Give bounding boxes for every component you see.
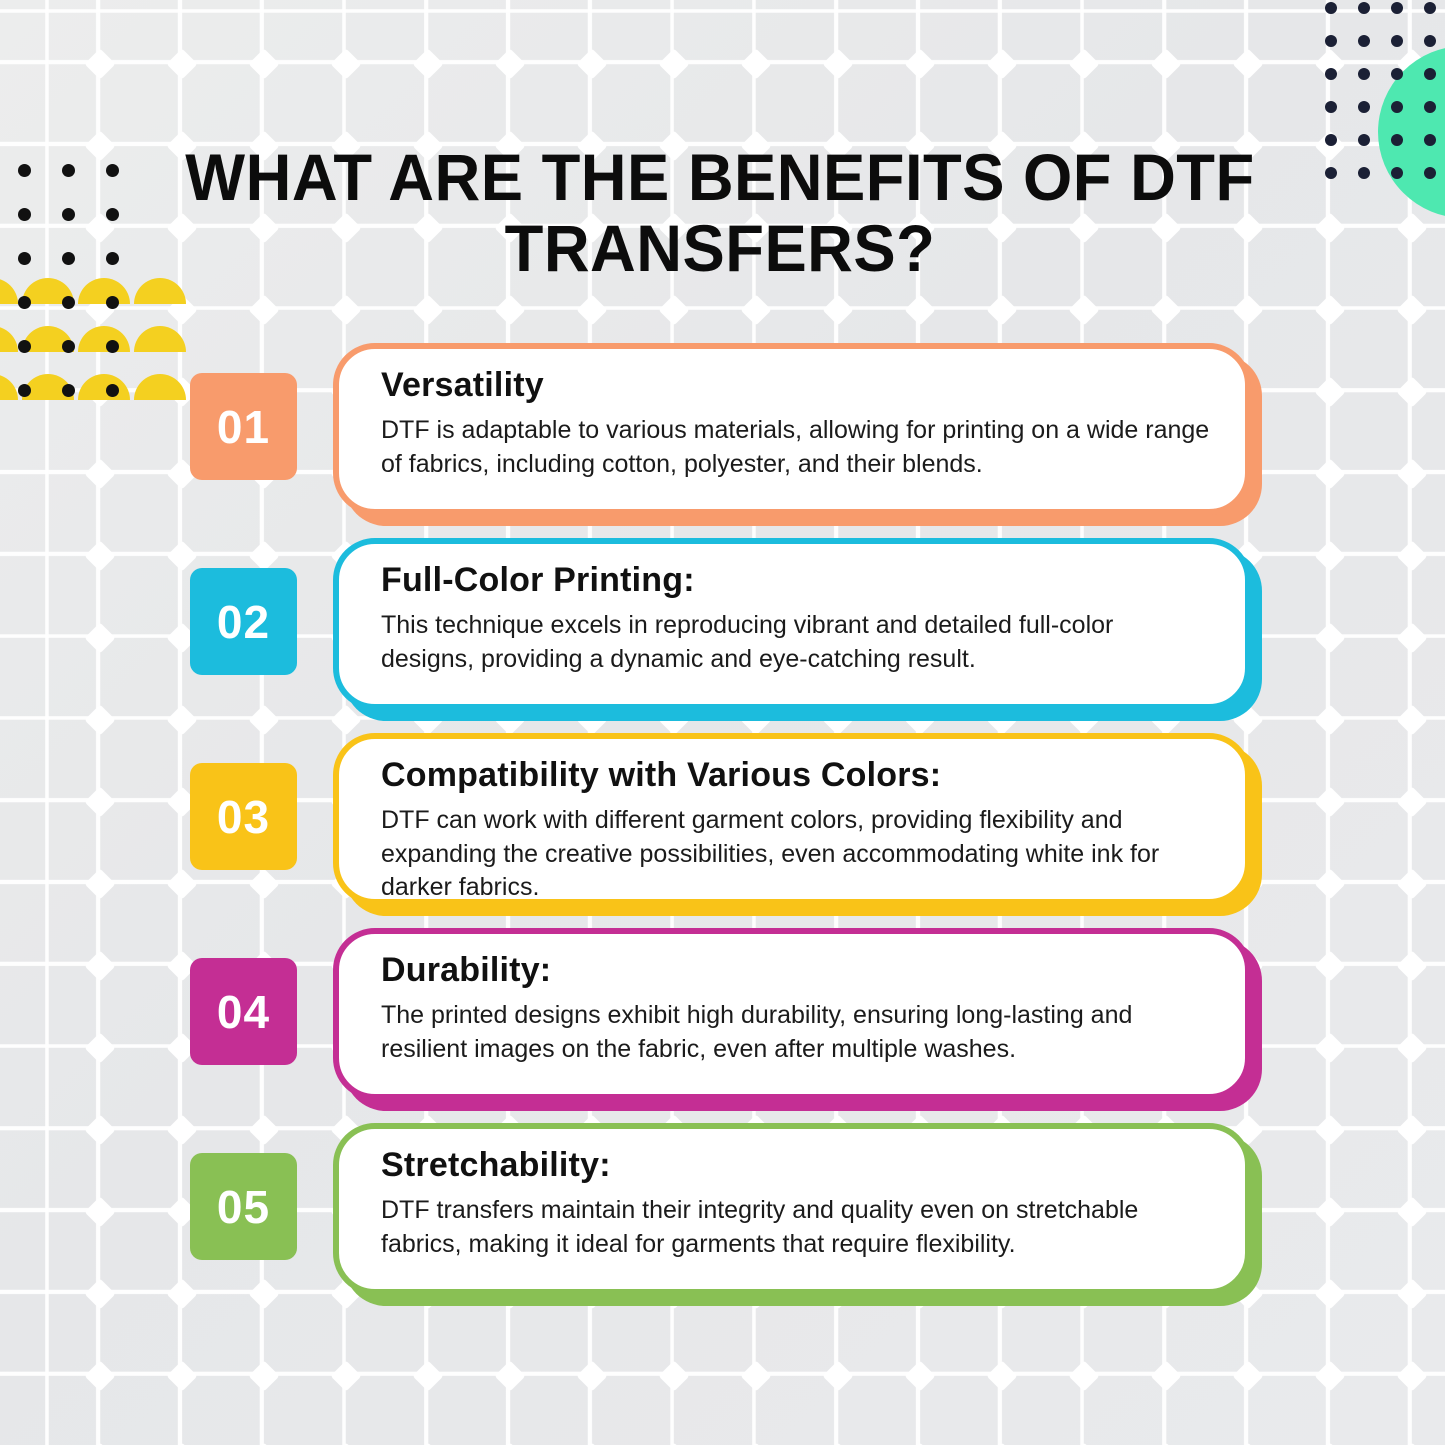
decorative-dot: [1391, 35, 1403, 47]
decorative-dot: [62, 164, 75, 177]
grid-diamond: [576, 1360, 607, 1391]
grid-diamond: [986, 294, 1017, 325]
yellow-semicircle: [0, 278, 18, 304]
grid-diamond: [494, 294, 525, 325]
benefit-description: DTF is adaptable to various materials, a…: [381, 414, 1211, 481]
benefits-list: 01VersatilityDTF is adaptable to various…: [0, 343, 1445, 1318]
yellow-semicircle: [78, 278, 130, 304]
grid-diamond: [658, 294, 689, 325]
decorative-dot: [1358, 134, 1370, 146]
benefit-card: Compatibility with Various Colors:DTF ca…: [333, 733, 1251, 905]
grid-diamond: [248, 1360, 279, 1391]
benefit-card: Full-Color Printing:This technique excel…: [333, 538, 1251, 710]
decorative-dot: [1391, 68, 1403, 80]
grid-diamond: [166, 48, 197, 79]
grid-diamond: [1068, 1360, 1099, 1391]
grid-diamond: [248, 294, 279, 325]
grid-diamond: [330, 48, 361, 79]
benefit-description: This technique excels in reproducing vib…: [381, 609, 1211, 676]
benefit-number-badge: 04: [190, 958, 297, 1065]
benefit-card-panel: Stretchability:DTF transfers maintain th…: [333, 1123, 1251, 1295]
grid-diamond: [740, 294, 771, 325]
grid-diamond: [1396, 48, 1427, 79]
decorative-dot: [1424, 167, 1436, 179]
decorative-dot: [106, 164, 119, 177]
benefit-description: The printed designs exhibit high durabil…: [381, 999, 1211, 1066]
grid-diamond: [84, 294, 115, 325]
decorative-dot: [18, 252, 31, 265]
decorative-dot: [62, 208, 75, 221]
decorative-dot: [1358, 167, 1370, 179]
decorative-dot: [1325, 101, 1337, 113]
grid-diamond: [740, 1360, 771, 1391]
grid-diamond: [1232, 48, 1263, 79]
semicircle-row: [0, 278, 190, 304]
decorative-dot: [1391, 167, 1403, 179]
grid-diamond: [412, 48, 443, 79]
decorative-dot: [1424, 35, 1436, 47]
grid-diamond: [658, 48, 689, 79]
grid-diamond: [412, 1360, 443, 1391]
grid-diamond: [412, 294, 443, 325]
grid-diamond: [740, 48, 771, 79]
grid-diamond: [822, 48, 853, 79]
decorative-dot: [62, 296, 75, 309]
benefit-card-panel: Durability:The printed designs exhibit h…: [333, 928, 1251, 1100]
grid-diamond: [84, 48, 115, 79]
grid-diamond: [166, 294, 197, 325]
grid-diamond: [330, 294, 361, 325]
grid-diamond: [1314, 130, 1345, 161]
grid-diamond: [822, 1360, 853, 1391]
decorative-dot: [1424, 134, 1436, 146]
benefit-card: Stretchability:DTF transfers maintain th…: [333, 1123, 1251, 1295]
decorative-dot: [1391, 134, 1403, 146]
decorative-dot: [1358, 68, 1370, 80]
grid-diamond: [904, 294, 935, 325]
grid-diamond: [1150, 294, 1181, 325]
benefit-number-badge: 05: [190, 1153, 297, 1260]
grid-diamond: [494, 1360, 525, 1391]
grid-diamond: [248, 48, 279, 79]
decorative-dot: [1325, 134, 1337, 146]
grid-diamond: [330, 1360, 361, 1391]
decorative-dot: [1325, 35, 1337, 47]
teal-circle-decoration: [1378, 46, 1445, 218]
decorative-dot: [1391, 2, 1403, 14]
decorative-dot: [1424, 101, 1436, 113]
benefit-number-badge: 01: [190, 373, 297, 480]
benefit-number-badge: 03: [190, 763, 297, 870]
decorative-dot: [18, 208, 31, 221]
decorative-dot: [1358, 35, 1370, 47]
decorative-dot: [1325, 2, 1337, 14]
benefit-item: 03Compatibility with Various Colors:DTF …: [0, 733, 1445, 928]
benefit-number-badge: 02: [190, 568, 297, 675]
grid-diamond: [576, 294, 607, 325]
yellow-semicircle: [22, 278, 74, 304]
decorative-dot: [106, 252, 119, 265]
decorative-dot: [1325, 68, 1337, 80]
grid-diamond: [1232, 1360, 1263, 1391]
yellow-semicircle: [134, 278, 186, 304]
benefit-item: 01VersatilityDTF is adaptable to various…: [0, 343, 1445, 538]
grid-diamond: [1396, 130, 1427, 161]
decorative-dot: [18, 296, 31, 309]
decorative-dot: [1424, 2, 1436, 14]
grid-diamond: [986, 1360, 1017, 1391]
grid-diamond: [1150, 48, 1181, 79]
grid-diamond: [84, 130, 115, 161]
benefit-card: VersatilityDTF is adaptable to various m…: [333, 343, 1251, 515]
benefit-card-panel: Compatibility with Various Colors:DTF ca…: [333, 733, 1251, 905]
benefit-title: Full-Color Printing:: [381, 562, 1211, 599]
benefit-title: Compatibility with Various Colors:: [381, 757, 1211, 794]
decorative-dot: [1358, 101, 1370, 113]
grid-diamond: [1396, 1360, 1427, 1391]
grid-diamond: [1396, 294, 1427, 325]
benefit-card-panel: Full-Color Printing:This technique excel…: [333, 538, 1251, 710]
grid-diamond: [658, 1360, 689, 1391]
decorative-dot: [1358, 2, 1370, 14]
page-title: WHAT ARE THE BENEFITS OF DTF TRANSFERS?: [182, 142, 1257, 285]
benefit-title: Versatility: [381, 367, 1211, 404]
decorative-dot: [1325, 167, 1337, 179]
grid-diamond: [1314, 212, 1345, 243]
grid-diamond: [1232, 294, 1263, 325]
decorative-dot: [106, 208, 119, 221]
grid-diamond: [1314, 48, 1345, 79]
grid-diamond: [1314, 294, 1345, 325]
decorative-dot: [18, 164, 31, 177]
grid-diamond: [822, 294, 853, 325]
grid-diamond: [904, 1360, 935, 1391]
grid-diamond: [1150, 1360, 1181, 1391]
grid-diamond: [494, 48, 525, 79]
decorative-dot: [62, 252, 75, 265]
decorative-dot: [106, 296, 119, 309]
benefit-item: 02Full-Color Printing:This technique exc…: [0, 538, 1445, 733]
benefit-title: Stretchability:: [381, 1147, 1211, 1184]
benefit-item: 04Durability:The printed designs exhibit…: [0, 928, 1445, 1123]
dot-grid-top-right: [1325, 2, 1445, 200]
benefit-card-panel: VersatilityDTF is adaptable to various m…: [333, 343, 1251, 515]
grid-diamond: [166, 1360, 197, 1391]
grid-diamond: [576, 48, 607, 79]
grid-diamond: [1068, 48, 1099, 79]
grid-diamond: [1396, 212, 1427, 243]
benefit-item: 05Stretchability:DTF transfers maintain …: [0, 1123, 1445, 1318]
decorative-dot: [1424, 68, 1436, 80]
benefit-description: DTF can work with different garment colo…: [381, 804, 1211, 904]
benefit-title: Durability:: [381, 952, 1211, 989]
grid-diamond: [1314, 1360, 1345, 1391]
grid-diamond: [904, 48, 935, 79]
grid-diamond: [1068, 294, 1099, 325]
benefit-card: Durability:The printed designs exhibit h…: [333, 928, 1251, 1100]
grid-diamond: [84, 212, 115, 243]
grid-diamond: [986, 48, 1017, 79]
decorative-dot: [1391, 101, 1403, 113]
infographic-canvas: WHAT ARE THE BENEFITS OF DTF TRANSFERS? …: [0, 0, 1445, 1445]
grid-diamond: [84, 1360, 115, 1391]
benefit-description: DTF transfers maintain their integrity a…: [381, 1194, 1211, 1261]
